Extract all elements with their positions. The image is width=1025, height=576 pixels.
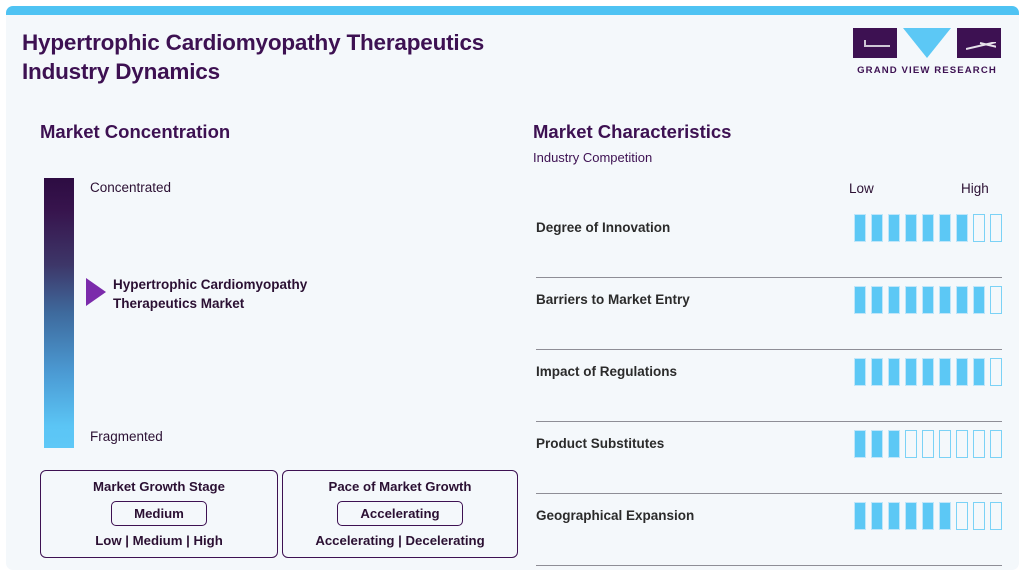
- pace-of-market-growth-value: Accelerating: [337, 501, 462, 526]
- bar-segment-filled: [956, 214, 968, 242]
- bar-segment-filled: [939, 502, 951, 530]
- bar-segment-filled: [871, 286, 883, 314]
- row-divider: [536, 565, 1002, 566]
- characteristic-bar-group: [854, 214, 1002, 242]
- bar-segment-filled: [922, 502, 934, 530]
- characteristic-label: Impact of Regulations: [536, 364, 677, 379]
- bar-segment-filled: [905, 286, 917, 314]
- bar-segment-empty: [939, 430, 951, 458]
- characteristic-bar-group: [854, 430, 1002, 458]
- market-growth-stage-scale: Low | Medium | High: [41, 533, 277, 548]
- bar-segment-filled: [939, 286, 951, 314]
- market-characteristics-subheading: Industry Competition: [533, 150, 652, 165]
- bar-segment-filled: [905, 214, 917, 242]
- bar-segment-filled: [854, 430, 866, 458]
- bar-segment-filled: [871, 214, 883, 242]
- bar-segment-empty: [973, 214, 985, 242]
- characteristic-label: Product Substitutes: [536, 436, 664, 451]
- page-title: Hypertrophic Cardiomyopathy Therapeutics…: [22, 28, 662, 86]
- market-position-label: Hypertrophic Cardiomyopathy Therapeutics…: [113, 275, 393, 313]
- pace-of-market-growth-box: Pace of Market Growth Accelerating Accel…: [282, 470, 518, 558]
- bar-segment-filled: [939, 358, 951, 386]
- characteristic-bar-group: [854, 286, 1002, 314]
- bar-segment-filled: [888, 502, 900, 530]
- characteristic-row: Geographical Expansion: [536, 494, 1002, 566]
- characteristic-row: Product Substitutes: [536, 422, 1002, 494]
- market-growth-stage-title: Market Growth Stage: [41, 479, 277, 494]
- bar-segment-empty: [922, 430, 934, 458]
- gradient-top-label: Concentrated: [90, 180, 171, 195]
- top-accent-bar: [6, 6, 1019, 15]
- bar-segment-filled: [956, 286, 968, 314]
- page-title-line-1: Hypertrophic Cardiomyopathy Therapeutics: [22, 28, 662, 57]
- logo-marks: [853, 28, 1001, 60]
- bar-segment-filled: [888, 214, 900, 242]
- market-growth-stage-value: Medium: [111, 501, 207, 526]
- bar-segment-empty: [990, 502, 1002, 530]
- market-position-label-line-1: Hypertrophic Cardiomyopathy: [113, 275, 393, 294]
- logo-right-detail: [966, 42, 996, 50]
- characteristic-label: Geographical Expansion: [536, 508, 694, 523]
- bar-segment-filled: [922, 286, 934, 314]
- bar-segment-filled: [888, 358, 900, 386]
- bar-segment-empty: [973, 430, 985, 458]
- bar-segment-empty: [990, 430, 1002, 458]
- page-title-line-2: Industry Dynamics: [22, 57, 662, 86]
- brand-logo: GRAND VIEW RESEARCH: [853, 28, 1001, 76]
- bar-segment-empty: [956, 430, 968, 458]
- bar-segment-empty: [973, 502, 985, 530]
- characteristic-bar-group: [854, 358, 1002, 386]
- characteristic-label: Barriers to Market Entry: [536, 292, 690, 307]
- bar-segment-empty: [905, 430, 917, 458]
- bar-segment-empty: [990, 214, 1002, 242]
- characteristic-label: Degree of Innovation: [536, 220, 670, 235]
- concentration-gradient-bar: [44, 178, 74, 448]
- bar-segment-filled: [905, 502, 917, 530]
- logo-left-detail: [864, 45, 890, 47]
- bar-segment-filled: [973, 286, 985, 314]
- market-growth-stage-box: Market Growth Stage Medium Low | Medium …: [40, 470, 278, 558]
- bar-segment-filled: [854, 214, 866, 242]
- bar-segment-filled: [939, 214, 951, 242]
- characteristic-row: Barriers to Market Entry: [536, 278, 1002, 350]
- market-concentration-heading: Market Concentration: [40, 121, 230, 143]
- bar-segment-empty: [990, 286, 1002, 314]
- characteristic-row: Degree of Innovation: [536, 206, 1002, 278]
- bar-segment-empty: [956, 502, 968, 530]
- axis-label-low: Low: [849, 181, 874, 196]
- logo-rect-left-icon: [853, 28, 897, 58]
- characteristic-row: Impact of Regulations: [536, 350, 1002, 422]
- bar-segment-empty: [990, 358, 1002, 386]
- bar-segment-filled: [871, 430, 883, 458]
- infographic-canvas: Hypertrophic Cardiomyopathy Therapeutics…: [0, 0, 1025, 576]
- bar-segment-filled: [854, 502, 866, 530]
- bar-segment-filled: [922, 214, 934, 242]
- bar-segment-filled: [922, 358, 934, 386]
- axis-label-high: High: [961, 181, 989, 196]
- market-position-pointer-icon: [86, 278, 106, 306]
- market-position-label-line-2: Therapeutics Market: [113, 294, 393, 313]
- bar-segment-filled: [871, 358, 883, 386]
- logo-rect-right-icon: [957, 28, 1001, 58]
- pace-of-market-growth-scale: Accelerating | Decelerating: [283, 533, 517, 548]
- gradient-bottom-label: Fragmented: [90, 429, 163, 444]
- bar-segment-filled: [905, 358, 917, 386]
- pace-of-market-growth-title: Pace of Market Growth: [283, 479, 517, 494]
- bar-segment-filled: [888, 430, 900, 458]
- logo-wordmark: GRAND VIEW RESEARCH: [853, 65, 1001, 76]
- main-panel: Hypertrophic Cardiomyopathy Therapeutics…: [6, 6, 1019, 570]
- characteristic-bar-group: [854, 502, 1002, 530]
- bar-segment-filled: [973, 358, 985, 386]
- market-characteristics-heading: Market Characteristics: [533, 121, 731, 143]
- bar-segment-filled: [871, 502, 883, 530]
- bar-segment-filled: [854, 358, 866, 386]
- logo-triangle-icon: [903, 28, 951, 58]
- bar-segment-filled: [854, 286, 866, 314]
- bar-segment-filled: [956, 358, 968, 386]
- bar-segment-filled: [888, 286, 900, 314]
